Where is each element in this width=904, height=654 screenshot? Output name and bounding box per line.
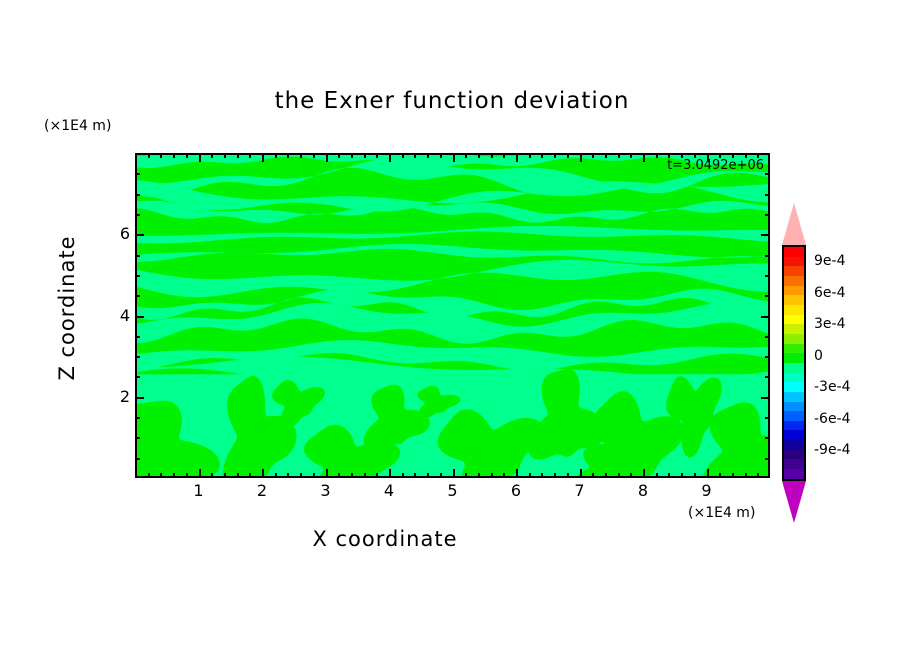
colorbar-band (784, 315, 804, 325)
x-tick-label: 5 (438, 481, 468, 500)
y-tick-minor (135, 417, 140, 419)
colorbar-over-arrow (782, 203, 806, 245)
x-tick-minor (300, 153, 302, 158)
x-tick-minor (440, 153, 442, 158)
x-tick-minor (275, 153, 277, 158)
x-tick-minor (465, 473, 467, 478)
x-tick-minor (313, 473, 315, 478)
x-tick-minor (287, 153, 289, 158)
colorbar-band (784, 411, 804, 421)
x-tick-minor (402, 153, 404, 158)
y-tick-minor (135, 356, 140, 358)
x-tick-minor (427, 153, 429, 158)
y-tick-major (135, 234, 144, 236)
x-tick-minor (618, 473, 620, 478)
chart-title: the Exner function deviation (0, 88, 904, 114)
x-tick-minor (491, 473, 493, 478)
colorbar-band (784, 363, 804, 373)
colorbar-band (784, 334, 804, 344)
x-tick-major (389, 469, 391, 478)
x-tick-major (453, 469, 455, 478)
y-tick-label: 4 (104, 306, 130, 325)
y-tick-major (761, 397, 770, 399)
x-tick-minor (554, 473, 556, 478)
y-tick-minor (765, 356, 770, 358)
x-tick-major (580, 153, 582, 162)
x-tick-minor (656, 473, 658, 478)
x-tick-minor (211, 473, 213, 478)
y-tick-minor (135, 173, 140, 175)
contour-field (137, 155, 768, 476)
x-tick-minor (211, 153, 213, 158)
x-tick-minor (376, 153, 378, 158)
timestamp-annotation: t=3.0492e+06 (667, 158, 764, 173)
x-tick-minor (313, 153, 315, 158)
y-tick-minor (765, 194, 770, 196)
colorbar-band (784, 402, 804, 412)
x-tick-major (262, 469, 264, 478)
x-tick-minor (630, 153, 632, 158)
y-tick-minor (765, 417, 770, 419)
colorbar-tick-label: -6e-4 (814, 411, 851, 427)
x-tick-label: 2 (247, 481, 277, 500)
x-tick-minor (402, 473, 404, 478)
y-tick-minor (135, 437, 140, 439)
x-tick-minor (529, 473, 531, 478)
colorbar-band (784, 440, 804, 450)
y-tick-major (135, 316, 144, 318)
y-tick-label: 2 (104, 387, 130, 406)
x-tick-major (643, 469, 645, 478)
x-tick-minor (148, 153, 150, 158)
x-tick-minor (668, 473, 670, 478)
x-tick-major (580, 469, 582, 478)
x-tick-major (516, 153, 518, 162)
x-tick-minor (148, 473, 150, 478)
x-tick-minor (224, 473, 226, 478)
x-axis-unit-label: (×1E4 m) (688, 505, 755, 521)
x-tick-minor (503, 473, 505, 478)
y-tick-minor (765, 295, 770, 297)
x-tick-minor (478, 153, 480, 158)
y-axis-unit-label: (×1E4 m) (44, 118, 111, 134)
x-tick-minor (414, 153, 416, 158)
colorbar-band (784, 373, 804, 383)
x-tick-minor (338, 473, 340, 478)
colorbar-band (784, 469, 804, 479)
x-tick-label: 6 (501, 481, 531, 500)
y-tick-minor (135, 336, 140, 338)
colorbar-tick-label: 6e-4 (814, 285, 845, 301)
y-tick-minor (765, 376, 770, 378)
colorbar-band (784, 392, 804, 402)
x-tick-minor (732, 473, 734, 478)
x-tick-minor (567, 473, 569, 478)
x-tick-minor (364, 153, 366, 158)
y-tick-minor (135, 275, 140, 277)
colorbar (782, 245, 806, 481)
colorbar-band (784, 353, 804, 363)
colorbar-band (784, 430, 804, 440)
y-tick-minor (135, 194, 140, 196)
y-tick-minor (765, 336, 770, 338)
x-tick-major (326, 153, 328, 162)
y-tick-minor (135, 214, 140, 216)
y-tick-minor (135, 458, 140, 460)
x-tick-major (707, 469, 709, 478)
x-tick-minor (656, 153, 658, 158)
y-tick-minor (765, 214, 770, 216)
x-tick-minor (351, 473, 353, 478)
colorbar-band (784, 266, 804, 276)
x-tick-minor (224, 153, 226, 158)
y-tick-major (135, 397, 144, 399)
x-tick-minor (249, 153, 251, 158)
colorbar-band (784, 450, 804, 460)
x-tick-major (516, 469, 518, 478)
y-tick-minor (135, 376, 140, 378)
x-tick-major (199, 469, 201, 478)
colorbar-band (784, 305, 804, 315)
y-tick-minor (765, 275, 770, 277)
x-tick-minor (300, 473, 302, 478)
x-tick-minor (287, 473, 289, 478)
x-tick-major (262, 153, 264, 162)
colorbar-tick-label: -9e-4 (814, 442, 851, 458)
x-tick-minor (630, 473, 632, 478)
x-tick-minor (351, 153, 353, 158)
y-tick-minor (765, 173, 770, 175)
colorbar-tick-label: 3e-4 (814, 316, 845, 332)
colorbar-band (784, 247, 804, 257)
colorbar-band (784, 295, 804, 305)
y-tick-minor (765, 255, 770, 257)
x-axis-title: X coordinate (0, 527, 770, 551)
colorbar-band (784, 382, 804, 392)
y-tick-major (761, 234, 770, 236)
y-tick-minor (765, 437, 770, 439)
x-tick-minor (719, 473, 721, 478)
x-tick-minor (414, 473, 416, 478)
x-tick-minor (186, 473, 188, 478)
colorbar-tick-label: 9e-4 (814, 253, 845, 269)
x-tick-minor (338, 153, 340, 158)
y-tick-minor (765, 458, 770, 460)
colorbar-tick-label: -3e-4 (814, 379, 851, 395)
colorbar-band (784, 257, 804, 267)
x-tick-minor (173, 153, 175, 158)
x-tick-minor (681, 473, 683, 478)
x-tick-label: 8 (628, 481, 658, 500)
x-tick-minor (694, 473, 696, 478)
x-tick-label: 4 (374, 481, 404, 500)
x-tick-minor (186, 153, 188, 158)
x-tick-minor (440, 473, 442, 478)
colorbar-tick-label: 0 (814, 348, 823, 364)
x-tick-minor (427, 473, 429, 478)
x-tick-minor (757, 473, 759, 478)
y-tick-minor (135, 255, 140, 257)
colorbar-band (784, 324, 804, 334)
x-tick-label: 9 (692, 481, 722, 500)
x-tick-minor (554, 153, 556, 158)
x-tick-minor (275, 473, 277, 478)
y-axis-title: Z coordinate (55, 218, 79, 398)
colorbar-band (784, 344, 804, 354)
contour-plot-area: t=3.0492e+06 (135, 153, 770, 478)
x-tick-minor (173, 473, 175, 478)
colorbar-band (784, 286, 804, 296)
x-tick-major (326, 469, 328, 478)
x-tick-major (643, 153, 645, 162)
x-tick-minor (745, 473, 747, 478)
x-tick-major (389, 153, 391, 162)
x-tick-label: 7 (565, 481, 595, 500)
y-tick-major (761, 316, 770, 318)
x-tick-minor (478, 473, 480, 478)
colorbar-band (784, 459, 804, 469)
y-tick-minor (135, 295, 140, 297)
x-tick-minor (160, 153, 162, 158)
x-tick-minor (364, 473, 366, 478)
x-tick-minor (618, 153, 620, 158)
x-tick-minor (503, 153, 505, 158)
colorbar-band (784, 276, 804, 286)
x-tick-minor (249, 473, 251, 478)
x-tick-minor (529, 153, 531, 158)
x-tick-minor (491, 153, 493, 158)
y-tick-label: 6 (104, 224, 130, 243)
x-tick-minor (605, 473, 607, 478)
x-tick-minor (237, 473, 239, 478)
x-tick-label: 3 (311, 481, 341, 500)
x-tick-minor (592, 153, 594, 158)
x-tick-label: 1 (184, 481, 214, 500)
colorbar-under-arrow (782, 481, 806, 523)
x-tick-minor (465, 153, 467, 158)
x-tick-minor (592, 473, 594, 478)
x-tick-minor (376, 473, 378, 478)
x-tick-minor (160, 473, 162, 478)
x-tick-major (199, 153, 201, 162)
x-tick-minor (237, 153, 239, 158)
x-tick-minor (541, 473, 543, 478)
x-tick-major (453, 153, 455, 162)
x-tick-minor (567, 153, 569, 158)
x-tick-minor (541, 153, 543, 158)
colorbar-band (784, 421, 804, 431)
x-tick-minor (605, 153, 607, 158)
